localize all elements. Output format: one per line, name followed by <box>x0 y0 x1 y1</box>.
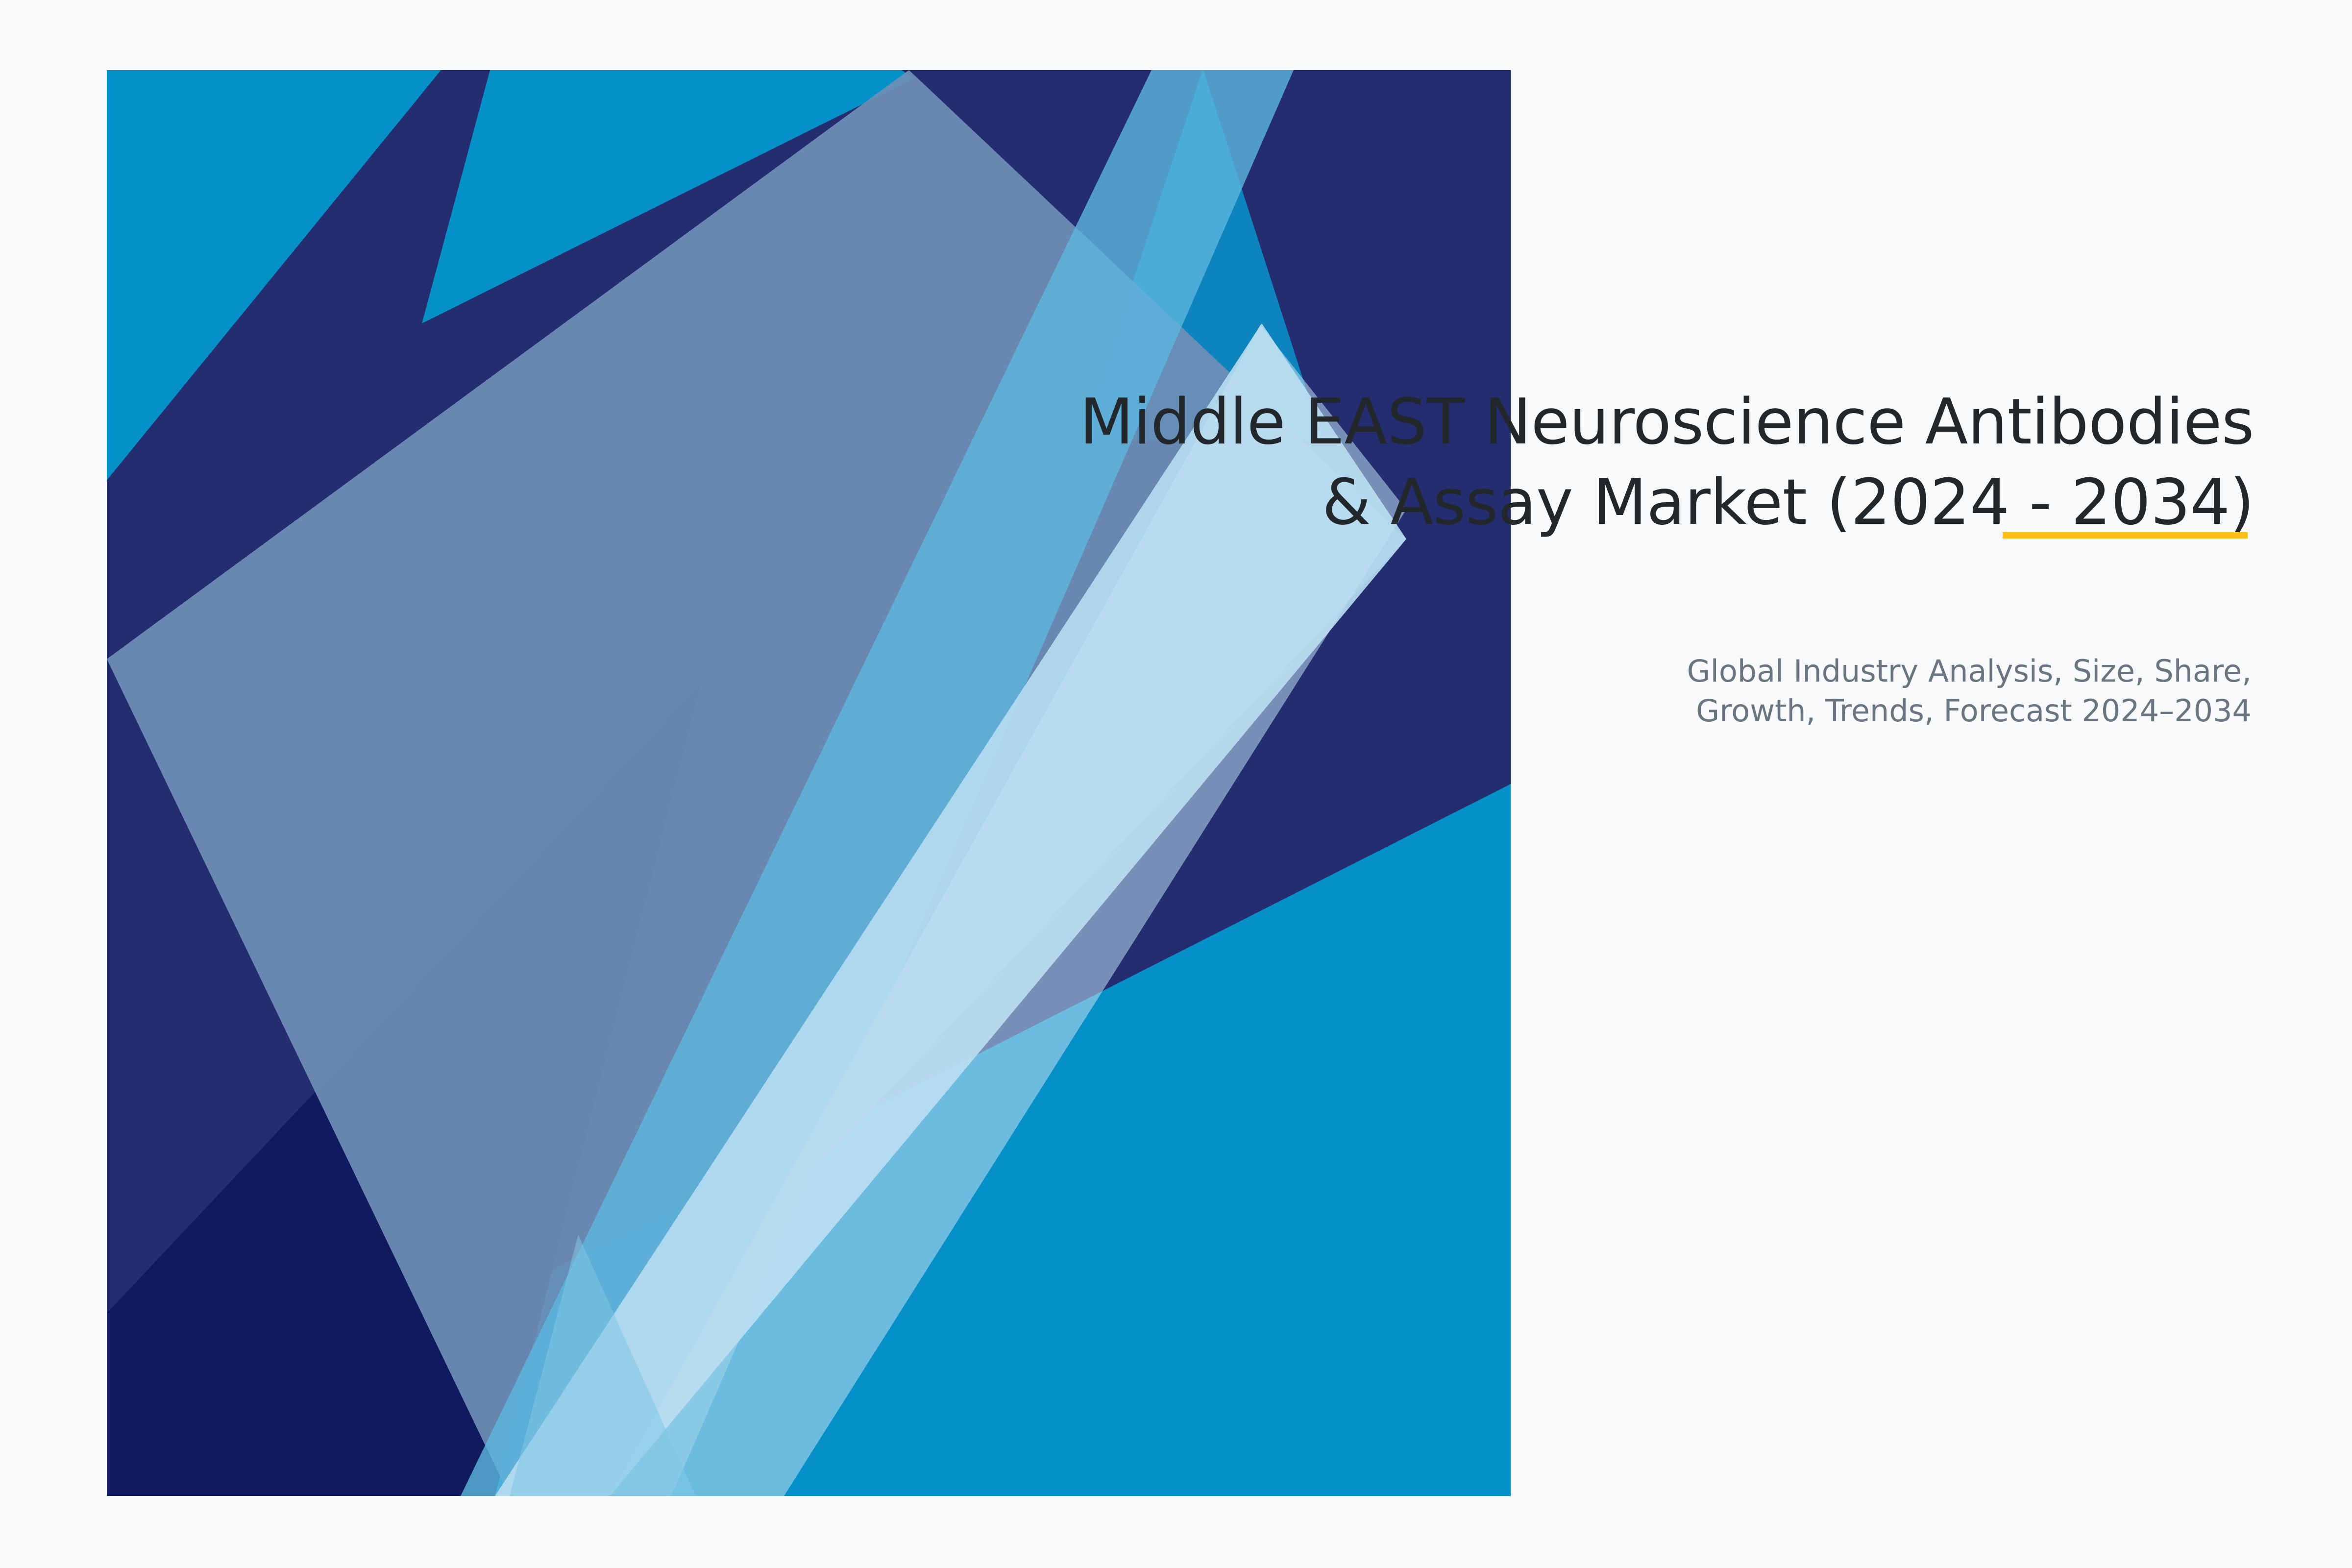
cover-text-block: Middle EAST Neuroscience Antibodies & As… <box>833 382 2254 543</box>
abstract-geometric-cover-graphic <box>0 0 2352 1568</box>
page-title: Middle EAST Neuroscience Antibodies & As… <box>833 382 2254 543</box>
page-subtitle: Global Industry Analysis, Size, Share, G… <box>833 652 2252 731</box>
cover-page: Middle EAST Neuroscience Antibodies & As… <box>0 0 2352 1568</box>
